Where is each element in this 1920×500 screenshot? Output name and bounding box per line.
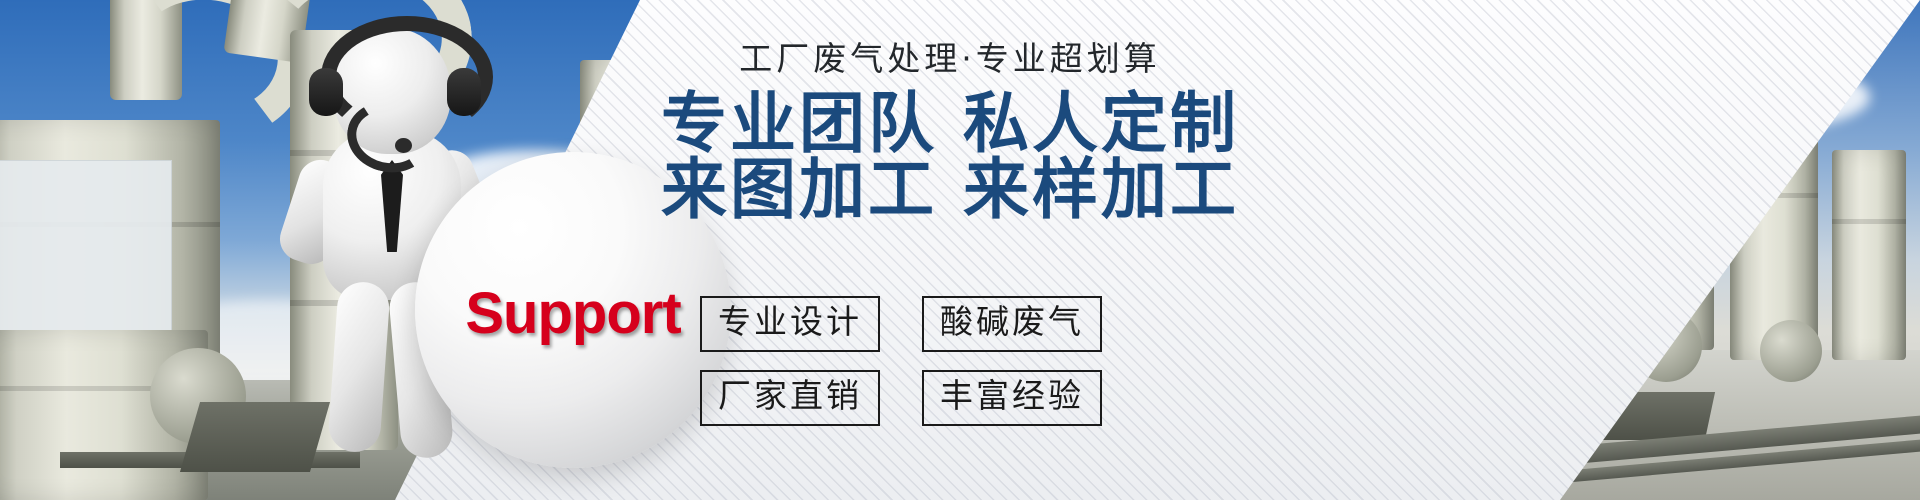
subtitle: 工厂废气处理·专业超划算	[640, 32, 1260, 80]
feature-tag-row-2: 厂家直销 丰富经验	[700, 370, 1120, 426]
support-label: Support	[415, 280, 731, 347]
feature-tag-factory-direct-sales[interactable]: 厂家直销	[700, 370, 880, 426]
promo-banner: Support 工厂废气处理·专业超划算 专业团队私人定制 来图加工来样加工 专…	[0, 0, 1920, 500]
headline-line-2: 来图加工来样加工	[640, 154, 1260, 226]
support-mascot: Support	[255, 10, 675, 500]
feature-tag-acid-alkali-exhaust[interactable]: 酸碱废气	[922, 296, 1102, 352]
headline-2-left: 来图加工	[661, 151, 937, 228]
headline-line-1: 专业团队私人定制	[640, 88, 1260, 160]
feature-tag-grid: 专业设计 酸碱废气 厂家直销 丰富经验	[700, 296, 1120, 444]
feature-tag-row-1: 专业设计 酸碱废气	[700, 296, 1120, 352]
feature-tag-rich-experience[interactable]: 丰富经验	[922, 370, 1102, 426]
headline-block: 工厂废气处理·专业超划算 专业团队私人定制 来图加工来样加工	[640, 32, 1260, 226]
headline-2-right: 来样加工	[963, 151, 1239, 228]
feature-tag-professional-design[interactable]: 专业设计	[700, 296, 880, 352]
